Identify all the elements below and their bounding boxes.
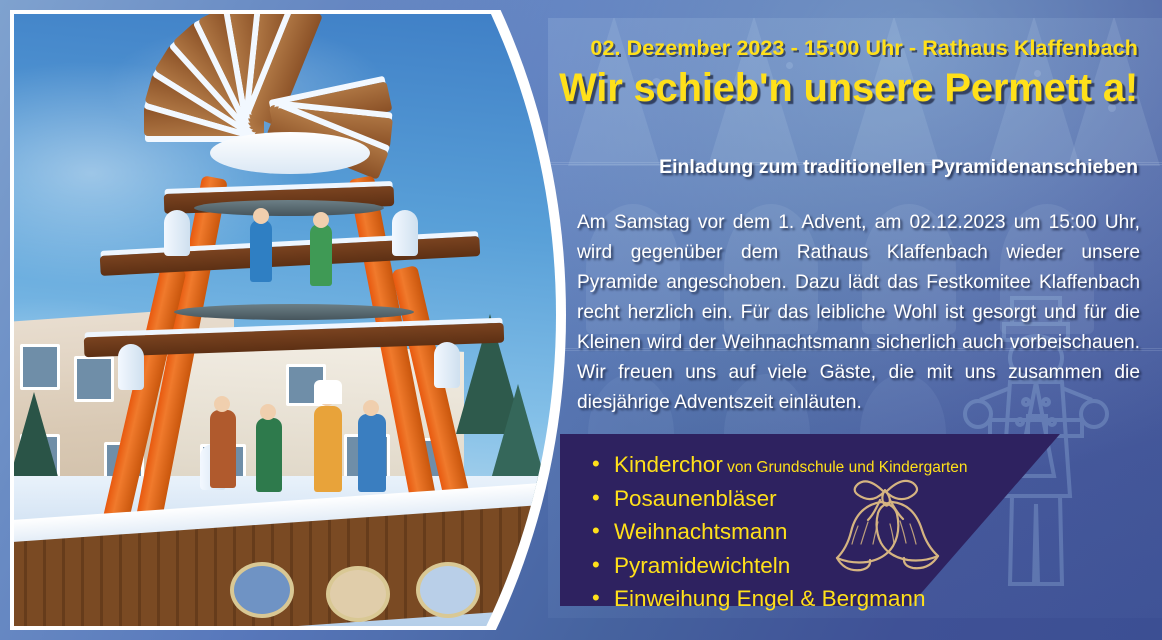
photo-image	[14, 14, 566, 626]
list-item: Kinderchor von Grundschule und Kindergar…	[588, 450, 1058, 484]
event-poster: 02. Dezember 2023 - 15:00 Uhr - Rathaus …	[0, 0, 1162, 640]
program-list: Kinderchor von Grundschule und Kindergar…	[588, 450, 1058, 618]
program-item-main: Weihnachtsmann	[614, 519, 787, 544]
poster-subheading: Einladung zum traditionellen Pyramidenan…	[659, 156, 1138, 179]
christmas-bells-icon	[824, 472, 950, 578]
list-item: Einweihung Engel & Bergmann	[588, 584, 1058, 618]
program-item-main: Kinderchor	[614, 452, 723, 477]
list-item: Pyramidewichteln	[588, 551, 1058, 585]
event-date-line: 02. Dezember 2023 - 15:00 Uhr - Rathaus …	[590, 36, 1138, 61]
list-item: Posaunenbläser	[588, 484, 1058, 518]
poster-headline: Wir schieb'n unsere Permett a!	[559, 66, 1138, 111]
program-item-main: Einweihung Engel & Bergmann	[614, 586, 925, 611]
pyramid-photo	[10, 10, 570, 630]
program-item-main: Posaunenbläser	[614, 486, 777, 511]
poster-body-text: Am Samstag vor dem 1. Advent, am 02.12.2…	[577, 208, 1140, 418]
program-item-main: Pyramidewichteln	[614, 553, 790, 578]
list-item: Weihnachtsmann	[588, 517, 1058, 551]
